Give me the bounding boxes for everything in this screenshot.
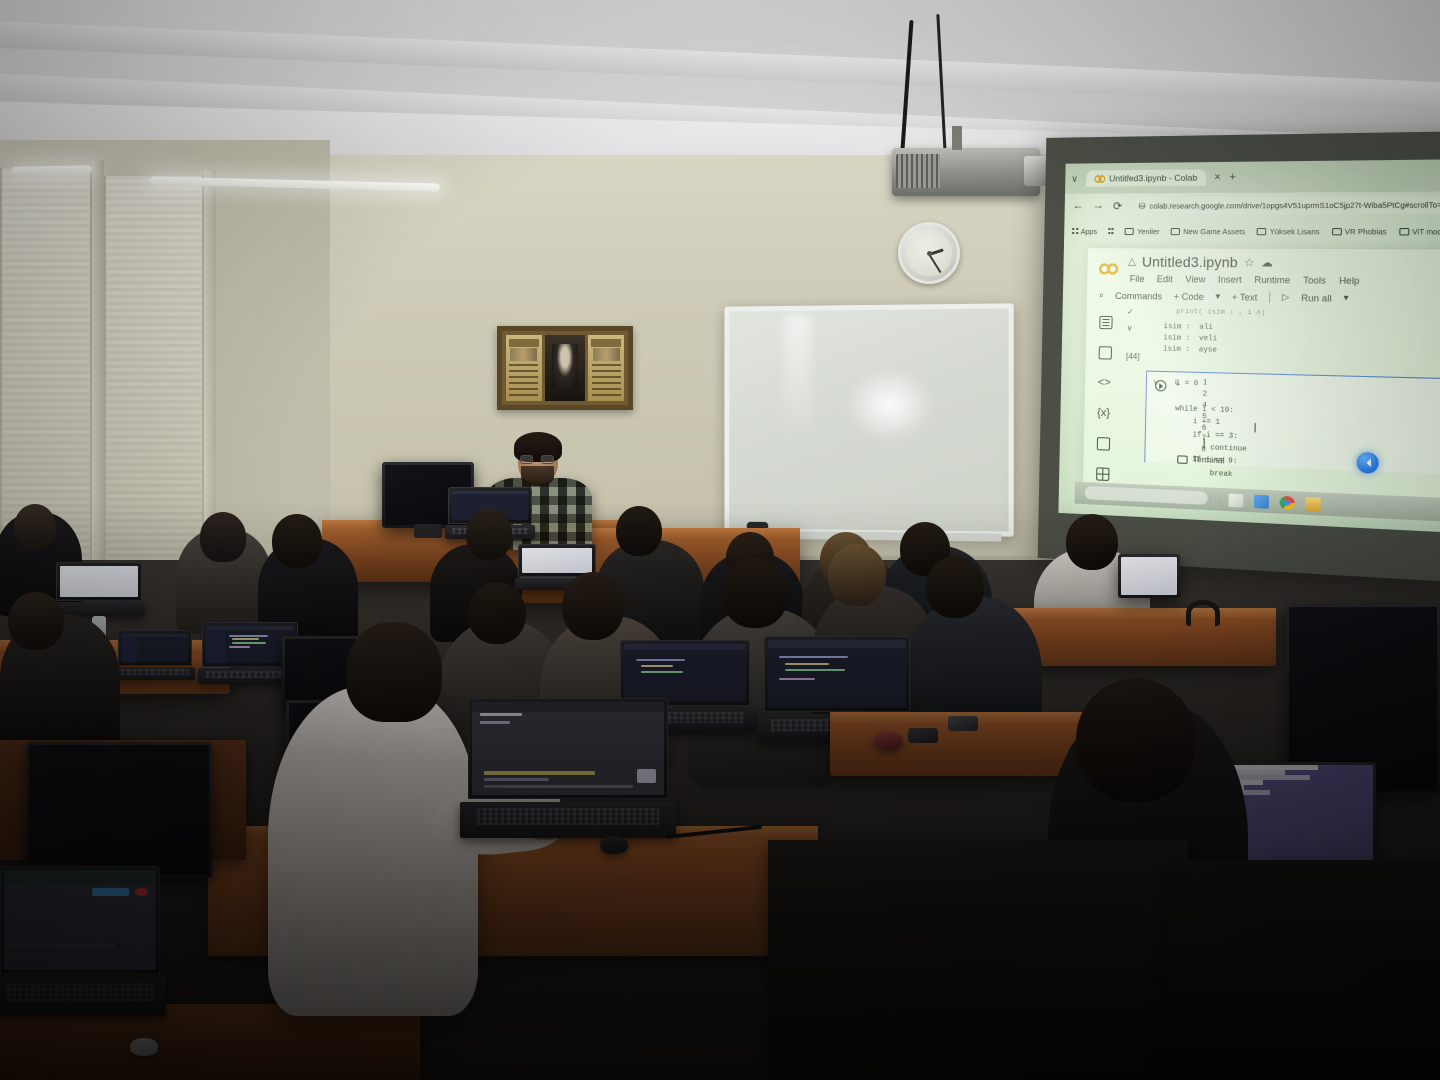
laptop-screen [60,566,138,597]
find-and-replace-icon[interactable] [1098,345,1112,359]
student-head [466,508,512,560]
menu-item-runtime[interactable]: Runtime [1254,275,1290,286]
add-text-cell-button[interactable]: + Text [1232,292,1258,303]
computer-desk [1166,860,1440,1080]
colab-left-sidebar: <> {x} [1089,309,1119,482]
browser-tab-title: Untitled3.ipynb - Colab [1109,172,1197,183]
computer-mouse[interactable] [130,1038,158,1056]
address-bar[interactable]: ⛁ colab.research.google.com/drive/1opgs4… [1131,195,1440,214]
menu-item-insert[interactable]: Insert [1218,274,1242,285]
student-monitor-screen [29,745,209,875]
student-head [616,506,662,556]
student-head [346,622,442,722]
output-collapse-chevron-icon[interactable]: ∨ [1153,378,1159,387]
apps-label: Apps [1081,226,1098,235]
laptop-base [460,802,676,838]
smartphone[interactable] [908,728,938,743]
browser-tab-strip: ∨ Untitled3.ipynb - Colab × + [1065,159,1440,194]
cell-collapse-chevron-icon[interactable]: ∨ [1127,323,1133,332]
computer-mouse[interactable] [874,732,902,750]
light-screen [60,566,138,597]
laptop-screen [206,626,294,663]
student-laptop[interactable] [56,562,142,616]
bookmark-label: VR Phobias [1345,226,1387,236]
new-tab-icon[interactable]: + [1229,171,1236,183]
task-view-icon[interactable] [1254,494,1269,508]
secrets-icon[interactable] [1095,466,1109,481]
dark-ide-screen [206,626,294,663]
bookmark-item[interactable]: Yüksek Lisans [1257,226,1320,235]
plaque-left-panel [506,335,542,401]
bookmark-label: Yeniler [1137,226,1159,235]
student-in-hoodie [268,686,478,1016]
drive-icon: △ [1128,256,1136,267]
previous-cell-output: isim : ali isim : veli isim : ayse [1163,322,1218,357]
commands-button[interactable]: Commands [1115,290,1162,301]
plaque-photo [593,348,620,361]
plaque-photo [510,348,537,361]
laptop-lid [56,562,142,601]
light-screen [522,548,592,573]
lecturer-beard [521,466,554,486]
laptop-lid [620,640,750,706]
bookmark-label: ViT models [1412,226,1440,236]
apps-grid-icon [1072,228,1078,234]
student-monitor [26,742,212,878]
tablet-lid [118,630,192,666]
bookmarks-bar: Apps Yeniler New Game Assets Yüksek Lisa… [1064,219,1440,243]
framed-wall-plaque [497,326,633,410]
student-monitor [1118,554,1180,598]
dark-ide-screen [472,702,664,795]
projector-vents [896,154,940,188]
student-head [1066,514,1118,570]
whiteboard-glare [845,367,935,442]
table-of-contents-icon[interactable] [1098,315,1112,329]
laptop-base [0,977,166,1016]
light-screen [1121,557,1177,595]
folder-icon [1399,227,1409,234]
cell-run-indicator: ✓ [1127,307,1134,316]
colab-menu-bar: File Edit View Insert Runtime Tools Help [1130,274,1360,286]
site-info-icon: ⛁ [1139,201,1146,210]
notebook-body: ✓ ∨ [44] print( isim : , i n) isim : ali… [1120,307,1440,480]
run-all-chevron-icon[interactable]: ▾ [1343,292,1348,304]
whiteboard-glare [784,315,812,442]
folder-icon [1331,227,1341,234]
projector-mount [952,126,962,150]
bookmark-item[interactable]: Yeniler [1125,226,1160,235]
student-tablet[interactable] [118,630,192,680]
laptop-keyboard[interactable] [477,808,658,825]
variables-icon[interactable]: {x} [1096,406,1110,421]
add-code-chevron-icon[interactable]: ▾ [1215,291,1220,302]
ceiling-projector [892,148,1040,196]
dark-ide-screen [768,640,906,708]
bookmark-item[interactable]: VR Phobias [1331,226,1386,236]
star-icon[interactable]: ☆ [1244,256,1255,270]
reload-icon[interactable]: ⟳ [1113,199,1123,212]
laptop-screen [624,644,746,702]
folder-icon [1125,227,1134,234]
output-prompt-icon: ↳ [1174,378,1181,387]
projected-desktop: ∨ Untitled3.ipynb - Colab × + ← → ⟳ ⛁ co… [1058,159,1440,534]
plaque-right-panel [588,335,624,401]
notebook-name[interactable]: Untitled3.ipynb [1142,254,1238,270]
student-head [8,592,64,650]
window-mullion [92,160,104,590]
tablet-base [115,667,195,680]
file-explorer-icon[interactable] [1305,496,1320,510]
terminal-icon [1177,455,1188,464]
previous-cell-code[interactable]: print( isim : , i n) [1176,308,1266,317]
bookmark-grid-icon[interactable] [1108,228,1114,234]
tablet-screen [122,634,188,662]
student-head [468,582,526,644]
cell-count-badge: [44] [1126,352,1140,361]
notebook-title-row: △ Untitled3.ipynb ☆ ☁ [1128,254,1273,270]
plaque-title-bar [591,339,621,347]
headphones[interactable] [1186,600,1220,626]
clock-center-pin [927,251,932,256]
terminal-button[interactable]: Terminal [1177,454,1224,465]
laptop-screen [522,548,592,573]
code-snippets-icon[interactable]: <> [1097,375,1111,390]
run-all-button[interactable]: Run all [1301,292,1332,303]
window-blind [104,176,204,576]
bookmark-label: Yüksek Lisans [1270,226,1320,235]
files-icon[interactable] [1096,436,1110,451]
ceiling-light [12,165,92,174]
lecturer-glasses-icon [520,455,554,464]
monitor-stand [414,524,442,538]
dark-ide-screen [624,644,746,702]
classroom-photo: ∨ Untitled3.ipynb - Colab × + ← → ⟳ ⛁ co… [0,0,1440,1080]
apps-shortcut[interactable]: Apps [1072,226,1097,235]
colab-toolbar: ⌕ Commands + Code ▾ + Text ▷ Run all ▾ [1099,290,1349,304]
taskbar-search-box[interactable] [1085,486,1208,505]
student-head [200,512,246,562]
menu-item-tools[interactable]: Tools [1303,275,1326,286]
student-head [722,558,788,628]
student-head [272,514,322,568]
folder-icon [1257,227,1267,234]
browser-tab[interactable]: Untitled3.ipynb - Colab [1086,169,1206,186]
back-icon[interactable]: ← [1073,200,1084,212]
bookmark-item[interactable]: New Game Assets [1171,226,1246,235]
colab-logo-icon [1097,262,1120,275]
search-icon: ⌕ [1099,290,1104,301]
menu-item-help[interactable]: Help [1339,275,1360,286]
start-icon[interactable] [1229,493,1244,507]
plaque-text-lines [509,364,538,396]
laptop-screen [472,702,664,795]
plaque-text-lines [592,364,621,396]
active-cell-output: 1 2 4 5 6 7 8 [1201,379,1266,459]
colab-favicon-icon [1094,174,1105,183]
smartphone[interactable] [948,716,978,731]
student-head [828,544,886,606]
plaque-title-bar [509,339,539,347]
student-head [926,556,984,618]
clock-face [906,230,952,276]
plaque-portrait-panel [545,335,586,401]
colab-header: △ Untitled3.ipynb ☆ ☁ File Edit View Ins… [1097,254,1440,305]
bookmark-item[interactable]: ViT models [1399,226,1440,236]
menu-item-file[interactable]: File [1130,274,1145,284]
portrait-image [552,344,578,388]
add-code-cell-button[interactable]: + Code [1173,291,1204,302]
folder-icon [1171,227,1180,234]
computer-desk [768,840,1188,1080]
close-tab-icon[interactable]: × [1214,171,1221,183]
student-laptop-foreground[interactable] [0,866,160,1016]
cloud-save-icon: ☁ [1261,256,1273,270]
menu-item-edit[interactable]: Edit [1157,274,1173,284]
laptop-screen [4,870,156,970]
student-head [14,504,56,550]
menu-item-view[interactable]: View [1185,274,1205,284]
computer-desk [1006,608,1276,666]
toolbar-divider [1269,291,1270,302]
clock-minute-hand [928,253,941,273]
laptop-lid [0,866,160,974]
bookmark-label: New Game Assets [1183,226,1245,235]
forward-icon[interactable]: → [1093,200,1104,212]
laptop-lid [468,698,668,799]
address-bar-url: colab.research.google.com/drive/1opgs4V5… [1149,200,1440,211]
wall-clock-icon [898,222,960,284]
laptop-screen [768,640,906,708]
computer-mouse[interactable] [600,836,628,854]
tab-list-chevron-icon[interactable]: ∨ [1071,173,1078,184]
browser-toolbar: ← → ⟳ ⛁ colab.research.google.com/drive/… [1064,189,1440,220]
run-icon: ▷ [1282,292,1290,304]
student-head [562,572,624,640]
student-monitor-screen [1121,557,1177,595]
student-laptop-foreground[interactable] [468,698,668,838]
terminal-label: Terminal [1193,455,1225,466]
google-colab-app: △ Untitled3.ipynb ☆ ☁ File Edit View Ins… [1083,248,1440,502]
laptop-lid [764,636,910,712]
dark-ide-screen [122,634,188,662]
student-head [1076,678,1196,802]
dark-ide-screen [4,870,156,970]
whiteboard [724,303,1013,536]
chrome-icon[interactable] [1280,495,1295,509]
